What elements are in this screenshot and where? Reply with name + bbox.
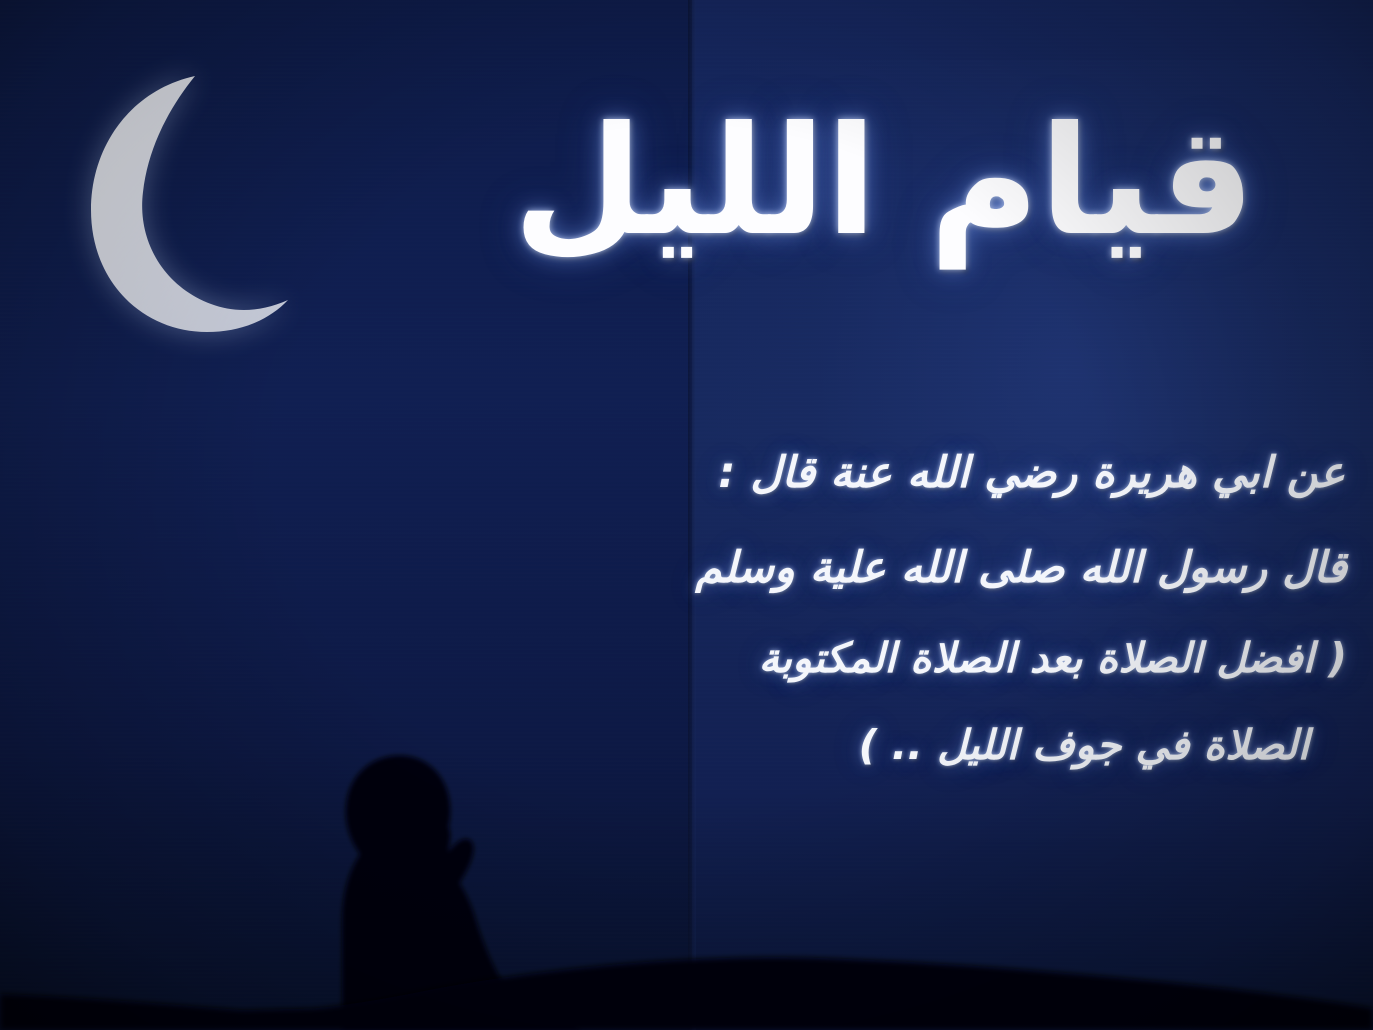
night-prayer-poster: قيام الليل عن ابي هريرة رضي الله عنة قال…	[0, 0, 1373, 1030]
page-title: قيام الليل	[615, 86, 1255, 278]
hadith-line-1: عن ابي هريرة رضي الله عنة قال :	[699, 452, 1345, 495]
hadith-line-2: قال رسول الله صلى الله علية وسلم	[699, 547, 1347, 590]
hadith-text-block: عن ابي هريرة رضي الله عنة قال : قال رسول…	[699, 452, 1347, 766]
crescent-moon-icon	[85, 70, 300, 335]
dark-foreground-hill	[0, 910, 1373, 1030]
hadith-line-4: الصلاة في جوف الليل .. )	[699, 725, 1309, 766]
hadith-line-3: ( افضل الصلاة بعد الصلاة المكتوبة	[699, 638, 1347, 679]
